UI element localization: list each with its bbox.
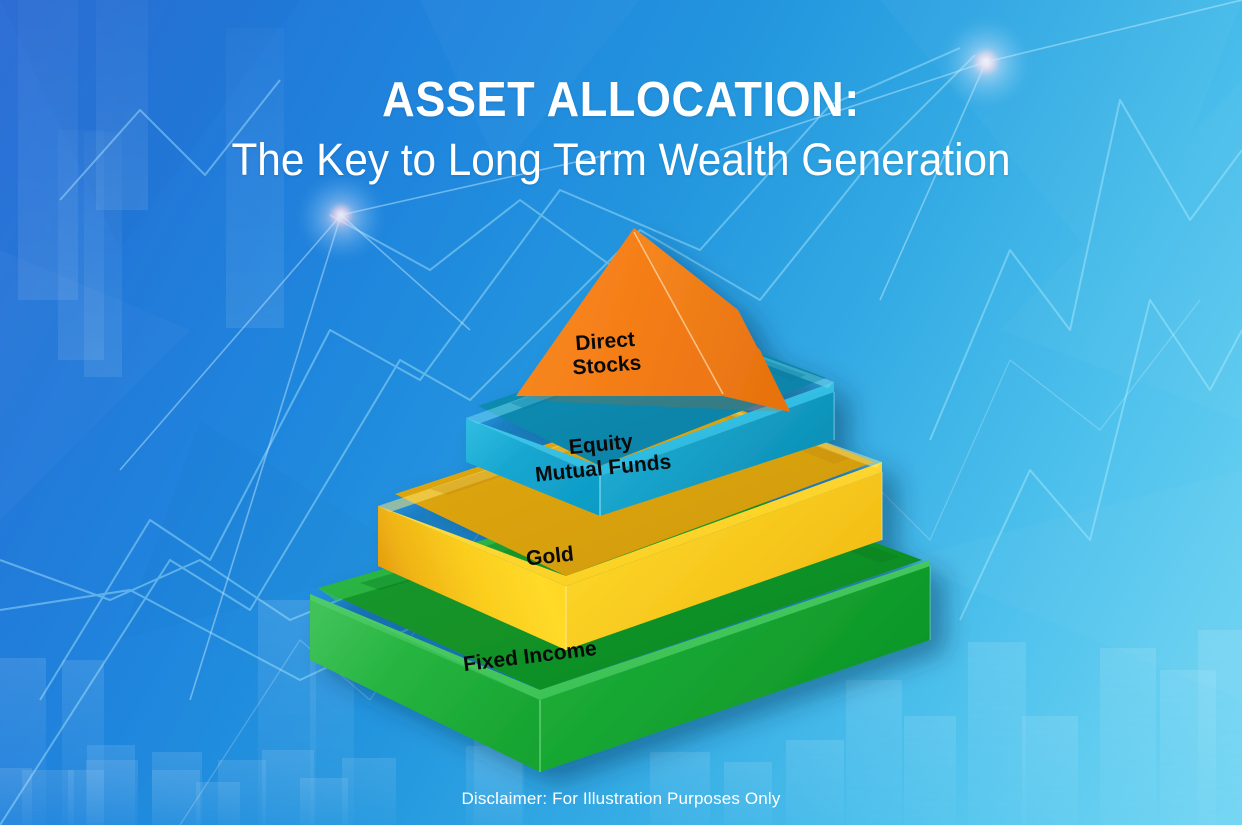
disclaimer-text: Disclaimer: For Illustration Purposes On… (0, 789, 1242, 809)
poster-canvas: ASSET ALLOCATION: The Key to Long Term W… (0, 0, 1242, 825)
pyramid-tier-direct-stocks (516, 228, 790, 413)
page-subtitle: The Key to Long Term Wealth Generation (37, 133, 1204, 186)
page-title: ASSET ALLOCATION: (50, 74, 1193, 127)
header-block: ASSET ALLOCATION: The Key to Long Term W… (0, 74, 1242, 186)
